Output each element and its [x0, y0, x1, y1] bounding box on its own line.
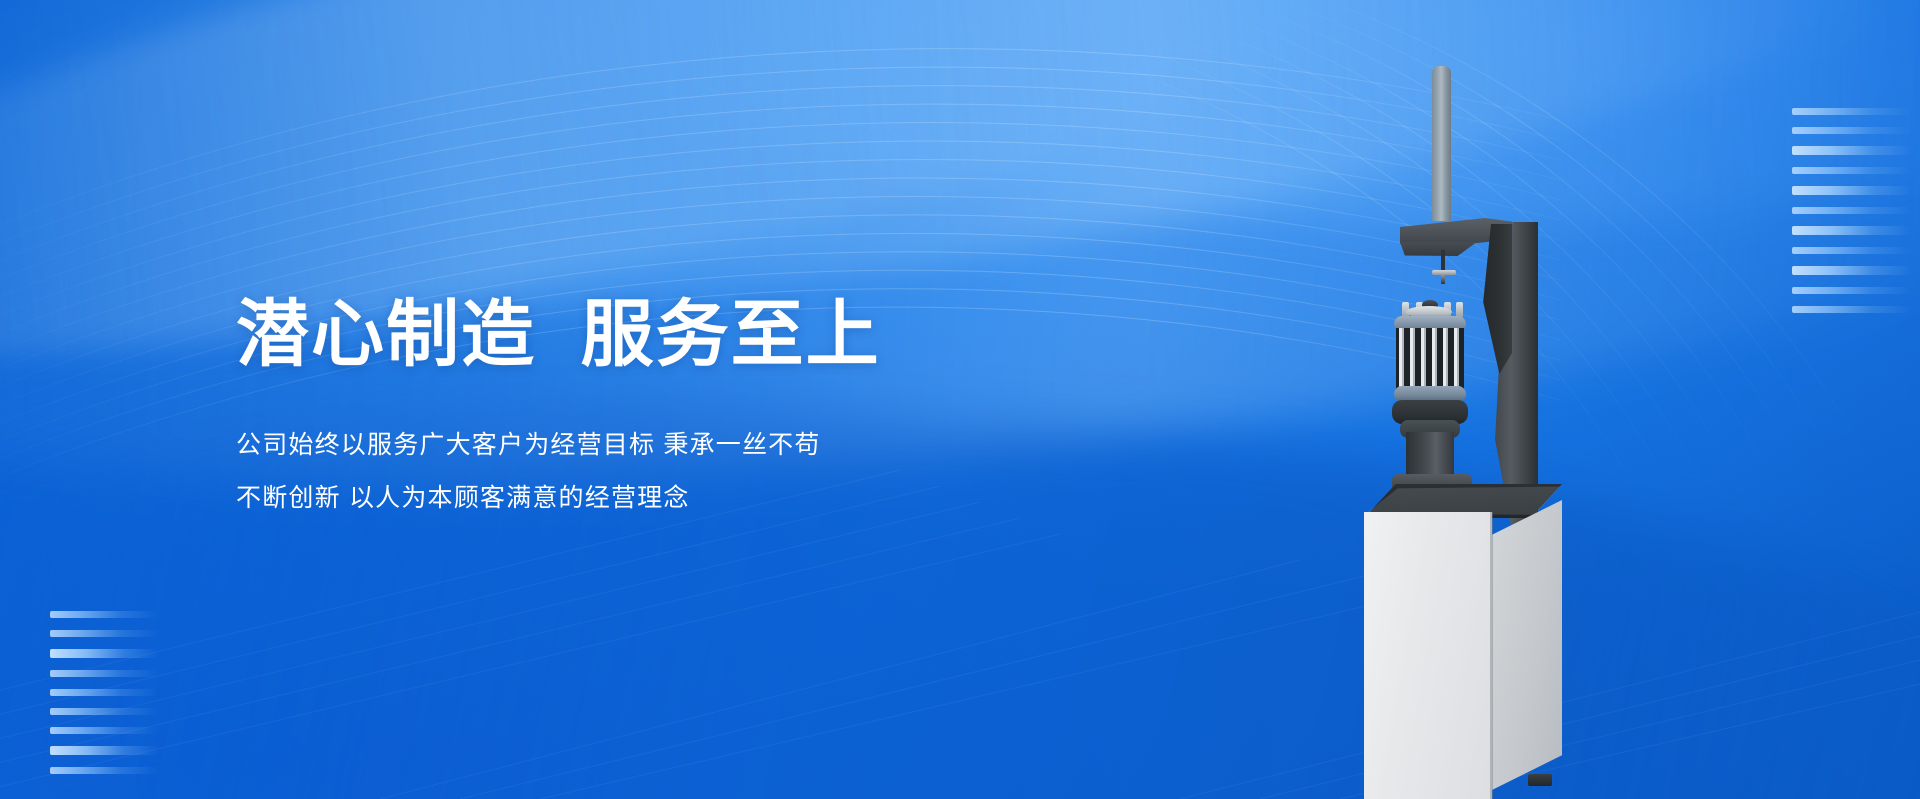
accent-bar: [50, 746, 158, 755]
subtitle-line-1: 公司始终以服务广大客户为经营目标 秉承一丝不苟: [236, 433, 1096, 458]
hero-subtitle: 公司始终以服务广大客户为经营目标 秉承一丝不苟 不断创新 以人为本顾客满意的经营…: [236, 433, 1096, 511]
probe-tip-icon: [1441, 274, 1445, 284]
chromed-cage-cylinder-icon: [1396, 328, 1464, 390]
vertical-post-icon: [1432, 66, 1451, 221]
accent-bar: [50, 689, 158, 696]
column-inner-face-icon: [1482, 224, 1512, 374]
accent-bar: [1792, 287, 1912, 294]
page-title: 潜心制造 服务至上: [236, 296, 1096, 373]
accent-bar: [1792, 127, 1912, 134]
accent-bar: [1792, 167, 1912, 174]
accent-bar: [1792, 247, 1912, 254]
leveling-foot-icon: [1528, 774, 1552, 786]
accent-bar: [50, 727, 158, 734]
subtitle-line-2: 不断创新 以人为本顾客满意的经营理念: [236, 486, 1096, 511]
accent-bar: [50, 708, 158, 715]
cabinet-side-panel-icon: [1492, 500, 1562, 790]
accent-bar: [50, 767, 158, 774]
accent-bar: [50, 611, 158, 618]
product-machine-illustration: [1356, 60, 1596, 799]
accent-bar: [1792, 186, 1912, 195]
light-ribbon-4: [550, 0, 1920, 259]
accent-bar: [1792, 207, 1912, 214]
bracket-lip-icon: [1400, 242, 1480, 256]
accent-bar: [50, 649, 158, 658]
accent-bar: [1792, 306, 1912, 313]
cabinet-front-panel-icon: [1364, 512, 1492, 799]
accent-bar: [1792, 146, 1912, 155]
hero-banner: 潜心制造 服务至上 公司始终以服务广大客户为经营目标 秉承一丝不苟 不断创新 以…: [0, 0, 1920, 799]
right-accent-bars: [1792, 108, 1920, 313]
hero-copy: 潜心制造 服务至上 公司始终以服务广大客户为经营目标 秉承一丝不苟 不断创新 以…: [236, 296, 1096, 511]
accent-bar: [1792, 108, 1912, 115]
accent-bar: [50, 670, 158, 677]
accent-bar: [1792, 226, 1912, 235]
accent-bar: [50, 630, 158, 637]
accent-bar: [1792, 266, 1912, 275]
cabinet-corner-edge-icon: [1490, 512, 1493, 799]
left-accent-bars: [50, 611, 170, 774]
